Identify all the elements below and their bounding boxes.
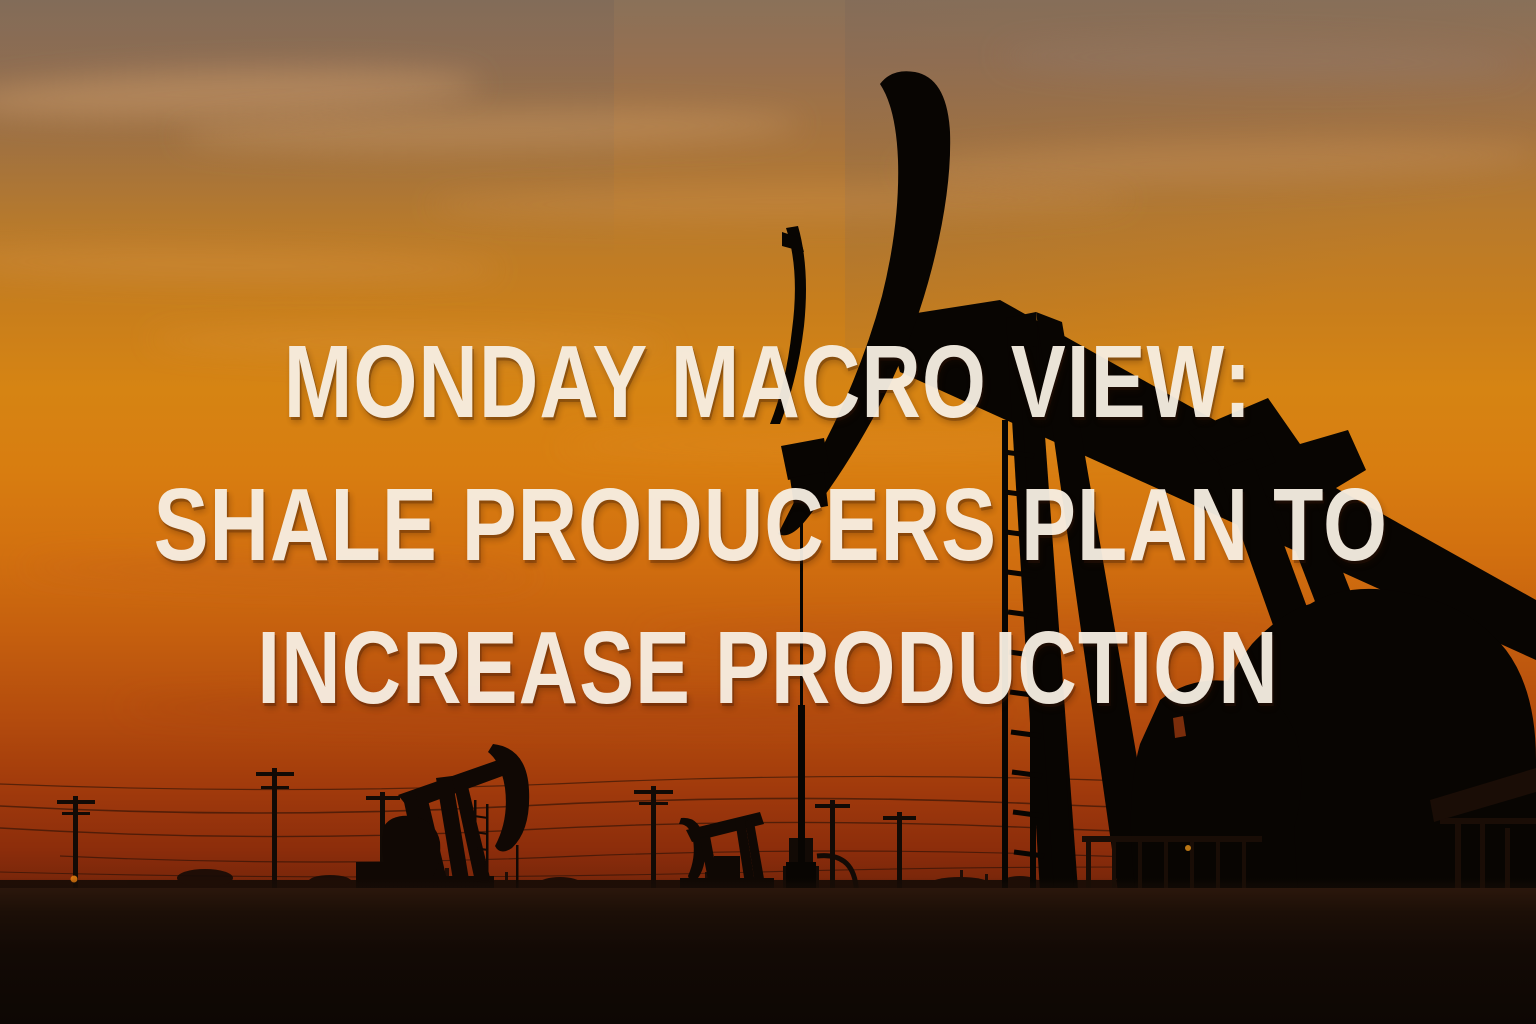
pumpjack-primary xyxy=(770,71,1536,896)
article-hero-banner: Monday Macro View: Shale Producers Plan … xyxy=(0,0,1536,1024)
oilfield-silhouette-scene xyxy=(0,0,1536,1024)
dark-foreground-field xyxy=(0,888,1536,1024)
utility-pole xyxy=(256,768,294,894)
